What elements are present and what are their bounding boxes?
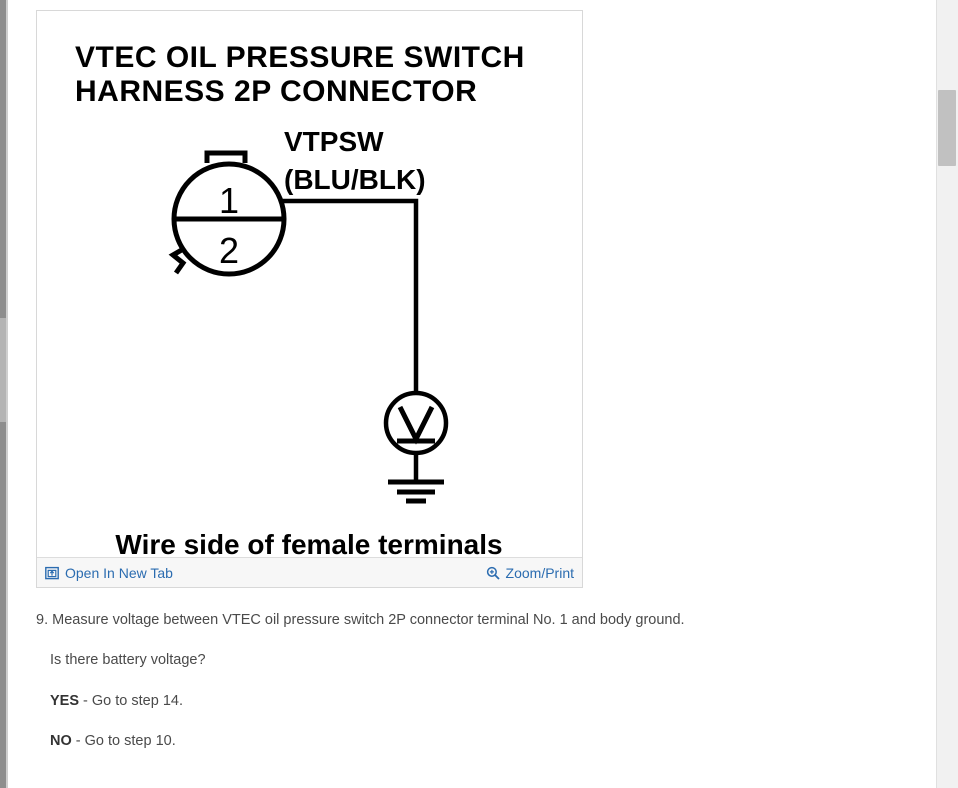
diagram-title-line2: HARNESS 2P CONNECTOR [75,75,477,108]
page-content: VTEC OIL PRESSURE SWITCH HARNESS 2P CONN… [36,0,916,788]
answer-no-key: NO [50,733,72,749]
page-scrollbar-thumb[interactable] [938,90,956,166]
zoom-print-button[interactable]: Zoom/Print [486,565,574,581]
connector-2p-symbol: 1 2 [173,153,284,274]
wiring-diagram-image[interactable]: VTEC OIL PRESSURE SWITCH HARNESS 2P CONN… [37,11,582,558]
signal-name-label: VTPSW [284,126,384,157]
terminal-number-2: 2 [219,230,239,271]
open-in-new-tab-button[interactable]: Open In New Tab [45,565,173,581]
procedure-question-text: Is there battery voltage? [50,650,206,670]
diagram-title-line1: VTEC OIL PRESSURE SWITCH [75,41,525,74]
procedure-step-text: 9. Measure voltage between VTEC oil pres… [36,610,685,630]
page-scrollbar-track[interactable] [936,0,958,788]
zoom-print-label: Zoom/Print [506,565,574,581]
magnifier-plus-icon [486,566,500,580]
answer-yes-row: YES - Go to step 14. [50,691,183,711]
open-in-new-window-icon [45,566,59,580]
answer-no-row: NO - Go to step 10. [50,731,176,751]
voltmeter-symbol [386,393,446,453]
open-in-new-tab-label: Open In New Tab [65,565,173,581]
image-toolbar: Open In New Tab Zoom/Print [37,557,582,587]
wiring-diagram-panel: VTEC OIL PRESSURE SWITCH HARNESS 2P CONN… [36,10,583,588]
test-lead-wire [282,201,416,393]
answer-yes-text: - Go to step 14. [79,693,183,709]
wiring-diagram-graphic: VTEC OIL PRESSURE SWITCH HARNESS 2P CONN… [37,11,582,558]
diagram-caption: Wire side of female terminals [115,529,502,558]
answer-no-text: - Go to step 10. [72,733,176,749]
terminal-number-1: 1 [219,180,239,221]
wire-color-label: (BLU/BLK) [284,164,426,195]
left-edge-divider [6,0,8,788]
answer-yes-key: YES [50,693,79,709]
body-ground-symbol [388,453,444,501]
